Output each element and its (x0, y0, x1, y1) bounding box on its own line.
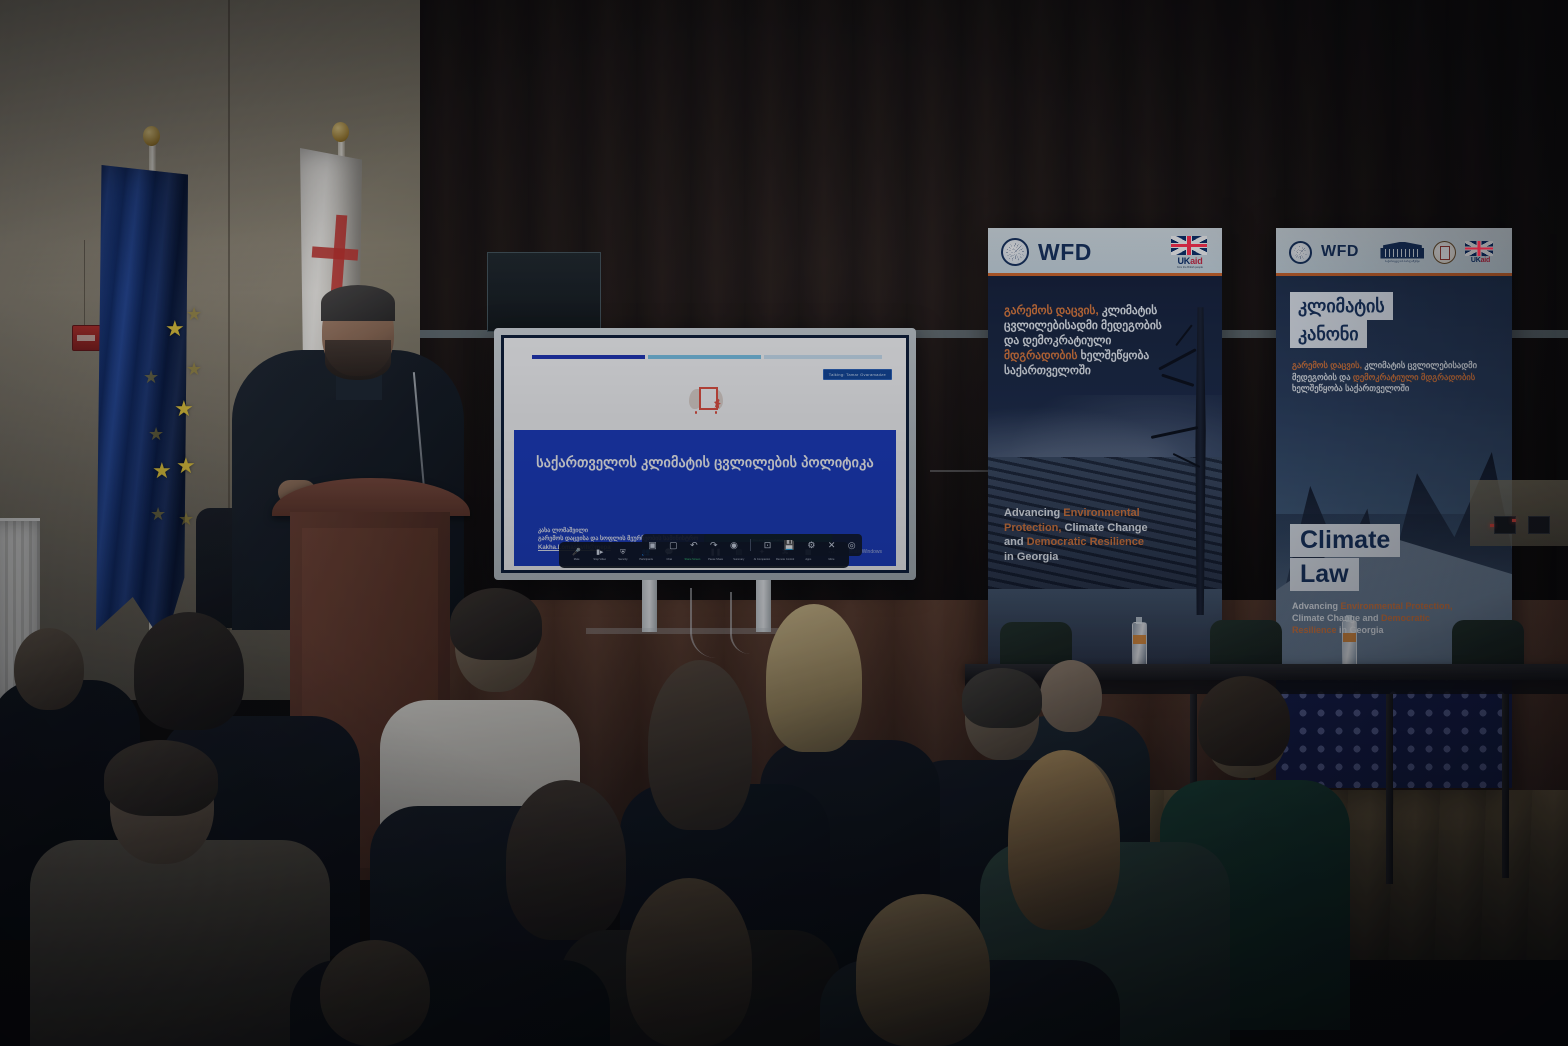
audience-hair (648, 660, 752, 830)
audience-hair (134, 612, 244, 730)
zoom-annotation-bar[interactable]: ▣ ▢ ↶ ↷ ◉ ⊡ 💾 ⚙ ✕ ◎ (642, 534, 862, 556)
zoom-tool-label: Pause Share (708, 558, 723, 561)
audience-head (1040, 660, 1102, 732)
en-part: in Georgia (1004, 551, 1058, 563)
audience-hair (1198, 676, 1290, 766)
ukaid-caption: from the British people (1171, 266, 1209, 269)
zoom-tool-label: Participants (639, 558, 653, 561)
banner-left-logo-strip: WFD UKaid from the British people (988, 228, 1222, 276)
eu-star: ★ (174, 398, 194, 420)
settings-icon[interactable]: ⚙ (807, 540, 815, 551)
save-icon[interactable]: 💾 (784, 540, 795, 551)
georgia-flag-finial (332, 122, 349, 142)
en-part: Democratic (1381, 613, 1430, 623)
bottle-label (1133, 635, 1146, 644)
progress-bar-3 (764, 355, 882, 359)
ukaid-uk: UK (1471, 257, 1481, 264)
slide-progress-bars (532, 355, 882, 359)
ukaid-aid: aid (1481, 257, 1491, 264)
microphone-icon: 🎤 (572, 549, 581, 557)
ukaid-logo: UKaid (1465, 241, 1495, 264)
audience-ponytail (1008, 750, 1120, 930)
ka-part: გარემოს დაცვის, (1292, 360, 1362, 370)
en-part: Climate Change (1061, 522, 1147, 534)
av-led-indicator (1490, 524, 1494, 527)
zoom-tool-label: Security (618, 558, 627, 561)
progress-bar-2 (648, 355, 761, 359)
toolbar-divider (750, 539, 751, 551)
zoom-tool-label: Remote Control (776, 558, 794, 561)
spotlight-icon[interactable]: ◉ (730, 540, 738, 551)
ka-part: ცვლილებისადმი მედეგობის (1004, 320, 1162, 332)
audience-torso-beige (30, 840, 330, 1046)
ukaid-logo: UKaid from the British people (1171, 236, 1209, 269)
shield-icon: ⛨ (620, 549, 625, 557)
ka-part: გარემოს დაცვის, (1004, 305, 1099, 317)
en-part: Advancing (1004, 507, 1063, 519)
ka-part: ხელშეწყობა (1077, 350, 1149, 362)
banner-right-title-en-2: Law (1290, 558, 1359, 591)
eu-star: ★ (150, 505, 166, 523)
emblem-detail (715, 411, 717, 414)
en-part: Democratic Resilience (1027, 536, 1144, 548)
audience-blonde-hair (766, 604, 862, 752)
gear-icon[interactable]: ◎ (848, 540, 856, 551)
audience-head (14, 628, 84, 710)
undo-icon[interactable]: ↶ (690, 540, 698, 551)
table-leg (1502, 694, 1509, 878)
display-stand-leg-left (642, 580, 657, 632)
eu-flag-finial (143, 126, 160, 146)
water-bottle (1132, 622, 1147, 670)
en-part: Protection, (1004, 522, 1061, 534)
av-control-unit (1528, 516, 1550, 534)
ukaid-aid: aid (1190, 256, 1202, 266)
fire-alarm-icon (72, 325, 101, 351)
banner-wfd-tree: WFD UKaid from the British people გარემო… (988, 228, 1222, 668)
av-led-indicator (1512, 519, 1516, 522)
zoom-tool-label: Apps (805, 558, 811, 561)
zoom-tool-label: Chat (667, 558, 672, 561)
banner-left-headline-ka: გარემოს დაცვის, კლიმატის ცვლილებისადმი მ… (1004, 304, 1204, 379)
annotate-icon[interactable]: ▣ (648, 540, 657, 551)
ka-part: საქართველოში (1004, 365, 1091, 377)
union-jack-red (1465, 241, 1493, 256)
ukaid-wordmark: UKaid (1171, 256, 1209, 266)
zoom-tool-label: Summary (733, 558, 744, 561)
close-icon[interactable]: ✕ (828, 540, 836, 551)
display-stand-leg-right (756, 580, 771, 632)
audience-head (320, 940, 430, 1046)
union-jack-icon (1171, 236, 1207, 255)
ukaid-uk: UK (1177, 256, 1190, 266)
en-part: Environmental Protection, (1341, 601, 1453, 611)
water-bottle (1342, 620, 1357, 668)
zoom-tool-mute[interactable]: 🎤 Mute (565, 549, 588, 561)
wfd-globe-icon (1289, 241, 1312, 264)
union-jack-red (1171, 236, 1207, 255)
audience-hair (626, 878, 752, 1046)
audience-hair (962, 668, 1042, 728)
banner-right-title-en-1: Climate (1290, 524, 1400, 557)
georgia-coat-of-arms-icon (689, 382, 723, 416)
ka-part: კლიმატის (1099, 305, 1158, 317)
eu-star: ★ (152, 460, 172, 482)
zoom-tool-label: More (829, 558, 835, 561)
presenter-hair (321, 285, 395, 321)
zoom-tool-label: Mute (574, 558, 580, 561)
camera-icon: ▮▸ (596, 549, 603, 557)
banner-left-headline-en: Advancing Environmental Protection, Clim… (1004, 506, 1204, 564)
en-part: Advancing (1292, 601, 1341, 611)
audience-hair (856, 894, 990, 1046)
slide-title: საქართველოს კლიმატის ცვლილების პოლიტიკა (514, 454, 896, 471)
alarm-wire (84, 240, 85, 326)
ukaid-wordmark: UKaid (1465, 257, 1495, 264)
zoom-tool-label: AI Companion (754, 558, 770, 561)
en-part: and (1004, 536, 1027, 548)
banner-right-subtitle-ka: გარემოს დაცვის, კლიმატის ცვლილებისადმი მ… (1292, 360, 1498, 395)
stop-share-icon[interactable]: ▢ (669, 540, 678, 551)
pa-speaker-box (487, 252, 601, 332)
ka-part: ხელშეწყობა საქართველოში (1292, 383, 1409, 393)
wfd-wordmark: WFD (1038, 239, 1092, 266)
ka-part: მედეგობის და (1292, 372, 1353, 382)
table-leg (1386, 694, 1393, 884)
display-cable (730, 592, 750, 654)
en-part: Resilience (1292, 625, 1337, 635)
audience-hair (506, 780, 626, 940)
eu-star: ★ (186, 305, 202, 323)
eu-star: ★ (178, 510, 194, 528)
en-part: Climate Change and (1292, 613, 1381, 623)
bottle-label (1343, 633, 1356, 642)
union-jack-icon (1465, 241, 1493, 256)
ka-part: კლიმატის ცვლილებისადმი (1362, 360, 1477, 370)
eu-star: ★ (143, 368, 159, 386)
ka-part: და დემოკრატიული (1004, 335, 1111, 347)
audience-hair (450, 588, 542, 660)
wfd-wordmark: WFD (1321, 243, 1359, 261)
eu-star: ★ (148, 425, 164, 443)
georgia-emblem-icon (1433, 241, 1456, 264)
emblem-detail (695, 411, 697, 414)
parliament-caption: საქართველოს პარლამენტი (1380, 260, 1424, 263)
presenter-beard (325, 340, 391, 380)
zoom-tool-label: Share Screen (685, 558, 701, 561)
eu-star: ★ (176, 455, 196, 477)
ka-part: დემოკრატიული მდგრადობის (1353, 372, 1475, 382)
ka-part: მდგრადობის (1004, 350, 1077, 362)
banner-right-logo-strip: WFD საქართველოს პარლამენტი UKaid (1276, 228, 1512, 276)
conference-room-photo: ★ ★ ★ ★ ★ ★ ★ ★ ★ ★ (0, 0, 1568, 1046)
emblem-shield (699, 387, 718, 410)
eu-star: ★ (186, 360, 202, 378)
banner-right-title-ka-2: კანონი (1290, 320, 1367, 348)
redo-icon[interactable]: ↷ (710, 540, 718, 551)
audience-hair (104, 740, 218, 816)
progress-bar-1 (532, 355, 645, 359)
new-share-icon[interactable]: ⊡ (764, 540, 772, 551)
en-part: Environmental (1063, 507, 1139, 519)
parliament-of-georgia-logo: საქართველოს პარლამენტი (1380, 242, 1424, 263)
zoom-tool-security[interactable]: ⛨ Security (611, 549, 634, 561)
zoom-speaker-badge: Talking: Tamar Gvaramadze (823, 369, 892, 380)
av-side-table (1470, 480, 1568, 546)
zoom-tool-label: Stop Video (593, 558, 606, 561)
parliament-building-icon (1380, 242, 1424, 259)
wfd-globe-icon (1001, 238, 1029, 266)
eu-star: ★ (165, 318, 185, 340)
zoom-tool-stop-video[interactable]: ▮▸ Stop Video (588, 549, 611, 561)
banner-right-title-ka-1: კლიმატის (1290, 292, 1393, 320)
